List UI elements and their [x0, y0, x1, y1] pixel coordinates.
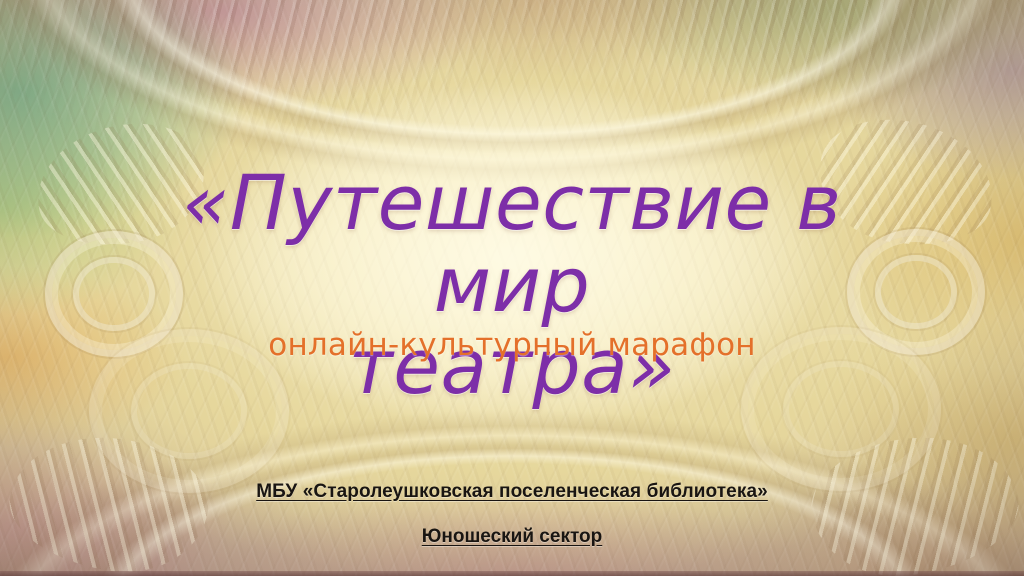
credit-department: Юношеский сектор — [62, 526, 962, 548]
slide-subtitle: онлайн-культурный марафон — [102, 327, 922, 363]
presentation-slide: «Путешествие в мир театра» онлайн-культу… — [0, 0, 1024, 576]
slide-title: «Путешествие в мир театра» — [117, 162, 907, 408]
credit-organization: МБУ «Старолеушковская поселенческая библ… — [62, 481, 962, 503]
credits-block: МБУ «Старолеушковская поселенческая библ… — [62, 481, 962, 548]
slide-content: «Путешествие в мир театра» онлайн-культу… — [0, 0, 1024, 576]
